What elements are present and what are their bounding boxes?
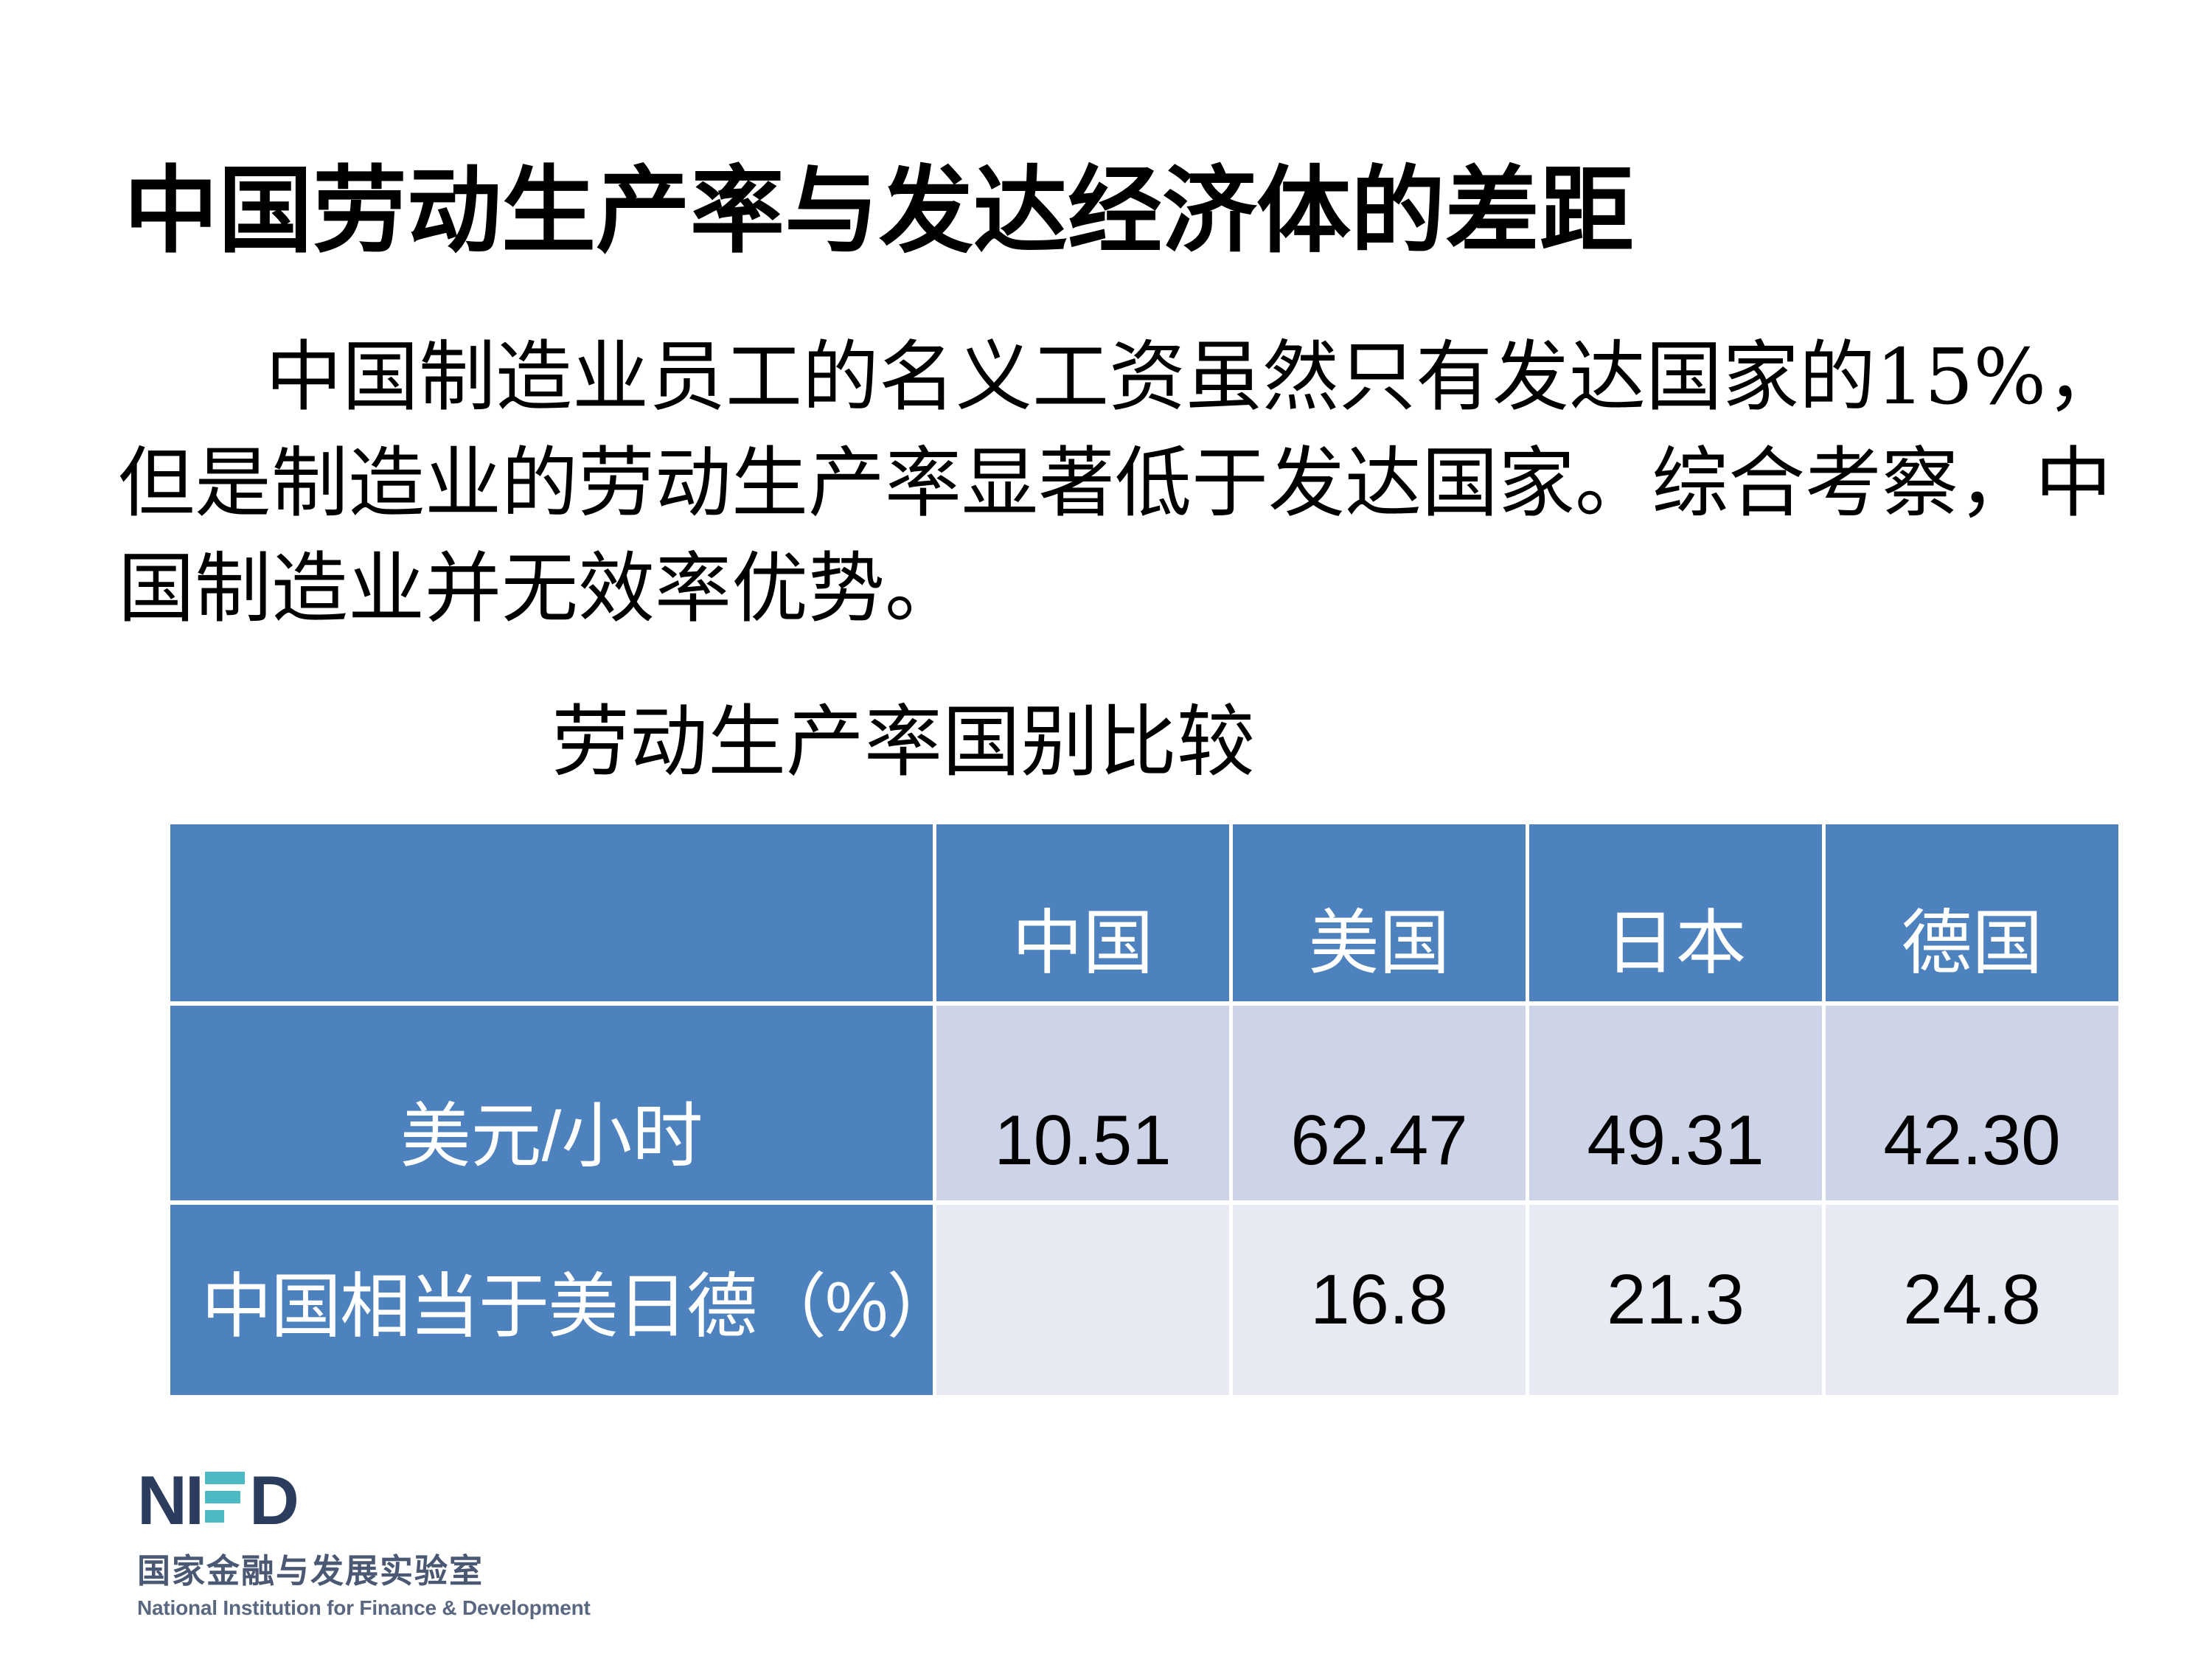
productivity-table: 中国 美国 日本 德国 美元/小时 10.51 62.47 49.31 42.3…: [167, 820, 2115, 1399]
body-paragraph: 中国制造业员工的名义工资虽然只有发达国家的15%，但是制造业的劳动生产率显著低于…: [118, 324, 2138, 642]
page-title: 中国劳动生产率与发达经济体的差距: [124, 161, 2115, 262]
cell-ratio-japan: 21.3: [1529, 1205, 1822, 1395]
logo-letters-d: D: [249, 1469, 297, 1532]
column-header-china: 中国: [936, 824, 1229, 1001]
table-header-row: 中国 美国 日本 德国: [170, 824, 2118, 1001]
cell-usd-usa: 62.47: [1233, 1006, 1526, 1200]
cell-ratio-usa: 16.8: [1233, 1205, 1526, 1395]
logo-name-chinese: 国家金融与发展实验室: [137, 1544, 447, 1592]
logo-name-english: National Institution for Finance & Devel…: [137, 1596, 447, 1620]
cell-ratio-china: [936, 1205, 1229, 1395]
logo-f-bars-icon: [205, 1469, 245, 1523]
column-header-usa: 美国: [1233, 824, 1526, 1001]
cell-usd-china: 10.51: [936, 1006, 1229, 1200]
row-label-usd-per-hour: 美元/小时: [170, 1006, 933, 1200]
cell-usd-japan: 49.31: [1529, 1006, 1822, 1200]
row-label-china-ratio: 中国相当于美日德（%）: [170, 1205, 933, 1395]
table-corner-cell: [170, 824, 933, 1001]
row-label-clipped-text: 中国相当于美日德（%）: [170, 1249, 933, 1352]
cell-ratio-germany: 24.8: [1826, 1205, 2118, 1395]
table-row: 中国相当于美日德（%） 16.8 21.3 24.8: [170, 1205, 2118, 1395]
logo-wordmark: NI D: [137, 1469, 447, 1532]
cell-usd-germany: 42.30: [1826, 1006, 2118, 1200]
table: 中国 美国 日本 德国 美元/小时 10.51 62.47 49.31 42.3…: [167, 820, 2122, 1399]
logo-letters-ni: NI: [137, 1469, 202, 1532]
column-header-germany: 德国: [1826, 824, 2118, 1001]
column-header-japan: 日本: [1529, 824, 1822, 1001]
nifd-logo: NI D 国家金融与发展实验室 National Institution for…: [137, 1469, 447, 1620]
table-row: 美元/小时 10.51 62.47 49.31 42.30: [170, 1006, 2118, 1200]
table-caption: 劳动生产率国别比较: [0, 678, 1806, 792]
slide-canvas: { "slide": { "title": "中国劳动生产率与发达经济体的差距"…: [0, 0, 2212, 1659]
